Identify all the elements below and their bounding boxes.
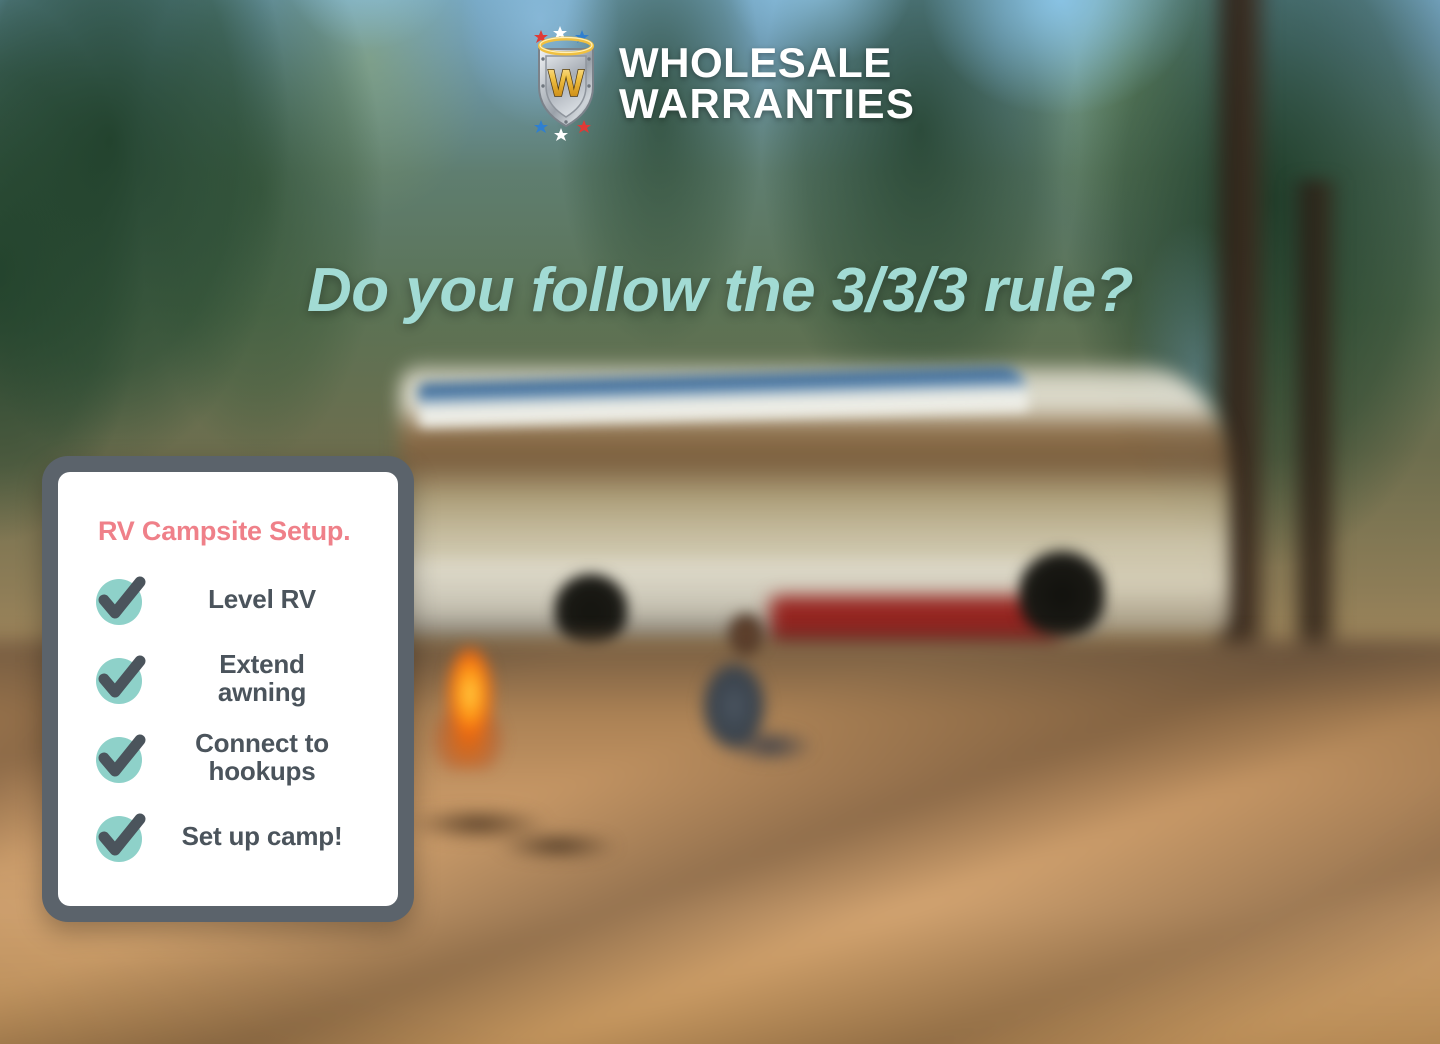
check-circle-icon: [92, 810, 150, 864]
brand-logo: W WHOLESALE WARRANTIES: [527, 24, 915, 142]
poster-canvas: W WHOLESALE WARRANTIES Do you follow the…: [0, 0, 1440, 1044]
list-item-label: Extend awning: [150, 651, 380, 707]
rv-campsite-setup-card: RV Campsite Setup. Level RV: [42, 456, 414, 922]
check-circle-icon: [92, 573, 150, 627]
brand-name-line-2: WARRANTIES: [619, 83, 915, 124]
shield-w-halo-icon: W: [527, 24, 605, 142]
card-inner-panel: RV Campsite Setup. Level RV: [58, 472, 398, 906]
list-item: Extend awning: [76, 651, 380, 707]
list-item-label: Set up camp!: [150, 823, 380, 851]
svg-text:W: W: [548, 63, 584, 105]
list-item: Set up camp!: [76, 810, 380, 864]
page-headline: Do you follow the 3/3/3 rule?: [0, 255, 1440, 326]
list-item-label: Connect to hookups: [150, 730, 380, 786]
card-title: RV Campsite Setup.: [98, 516, 380, 547]
list-item: Connect to hookups: [76, 730, 380, 786]
list-item-label: Level RV: [150, 586, 380, 614]
brand-name-line-1: WHOLESALE: [619, 42, 915, 83]
check-circle-icon: [92, 652, 150, 706]
list-item: Level RV: [76, 573, 380, 627]
brand-wordmark: WHOLESALE WARRANTIES: [619, 42, 915, 124]
checklist: Level RV Extend awning: [76, 557, 380, 886]
check-circle-icon: [92, 731, 150, 785]
